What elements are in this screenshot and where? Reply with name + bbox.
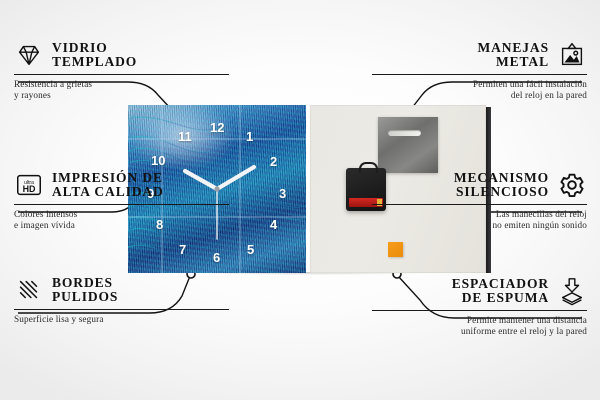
feature-title-line2: SILENCIOSO — [454, 185, 549, 199]
feature-title-line2: TEMPLADO — [52, 55, 137, 69]
diamond-icon — [14, 40, 44, 70]
feature-title-line2: ALTA CALIDAD — [52, 185, 164, 199]
feature-vidrio-templado: VIDRIO TEMPLADO Resistencia a grietas y … — [14, 40, 229, 101]
feature-desc-line2: y rayones — [14, 90, 229, 101]
feature-title-line2: PULIDOS — [52, 290, 118, 304]
feature-rule — [372, 204, 587, 205]
metal-hanger-plate — [378, 117, 438, 173]
feature-bordes-pulidos: BORDES PULIDOS Superficie lisa y segura — [14, 275, 229, 325]
feature-title-line1: MECANISMO — [454, 171, 549, 185]
feature-title-line2: DE ESPUMA — [452, 291, 549, 305]
feature-desc-line2: no emiten ningún sonido — [372, 220, 587, 231]
feature-desc-line1: Permite mantener una distancia — [372, 315, 587, 326]
feature-title-line1: VIDRIO — [52, 41, 137, 55]
feature-espaciador-espuma: ESPACIADOR DE ESPUMA Permite mantener un… — [372, 276, 587, 337]
feature-desc-line1: Las manecillas del reloj — [372, 209, 587, 220]
svg-text:HD: HD — [23, 184, 36, 194]
feature-title-line1: IMPRESIÓN DE — [52, 171, 164, 185]
feature-desc-line2: e imagen vívida — [14, 220, 229, 231]
feature-rule — [14, 204, 229, 205]
feature-title-line2: METAL — [477, 55, 549, 69]
foam-spacer-icon — [557, 276, 587, 306]
feature-title-line1: MANEJAS — [477, 41, 549, 55]
ultra-hd-icon: ultra HD — [14, 170, 44, 200]
infographic-canvas: 12 1 2 3 4 5 6 7 8 9 10 11 — [0, 0, 600, 400]
feature-title-line1: BORDES — [52, 276, 118, 290]
feature-impresion-alta-calidad: ultra HD IMPRESIÓN DE ALTA CALIDAD Color… — [14, 170, 229, 231]
hanger-slot — [388, 130, 421, 136]
feature-title-line1: ESPACIADOR — [452, 277, 549, 291]
feature-manejas-metal: MANEJAS METAL Permiten una fácil instala… — [372, 40, 587, 101]
foam-spacer-square — [388, 242, 403, 257]
feature-mecanismo-silencioso: MECANISMO SILENCIOSO Las manecillas del … — [372, 170, 587, 231]
wall-frame-icon — [557, 40, 587, 70]
feature-desc-line1: Colores intensos — [14, 209, 229, 220]
feature-rule — [14, 74, 229, 75]
feature-desc-line2: uniforme entre el reloj y la pared — [372, 326, 587, 337]
feature-rule — [372, 310, 587, 311]
polished-edges-icon — [14, 275, 44, 305]
feature-desc-line2: del reloj en la pared — [372, 90, 587, 101]
feature-rule — [372, 74, 587, 75]
feature-rule — [14, 309, 229, 310]
feature-desc-line1: Resistencia a grietas — [14, 79, 229, 90]
gear-icon — [557, 170, 587, 200]
feature-desc-line1: Permiten una fácil instalación — [372, 79, 587, 90]
feature-desc-line1: Superficie lisa y segura — [14, 314, 229, 325]
